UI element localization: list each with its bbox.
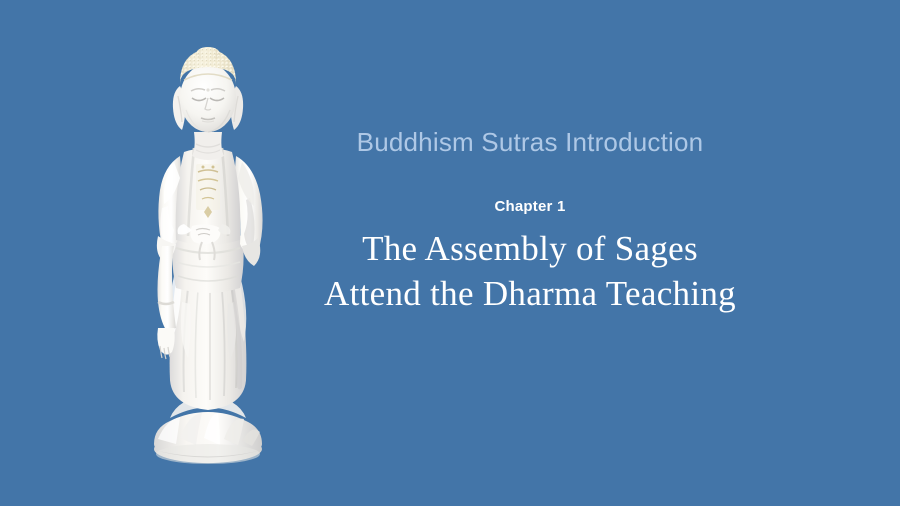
presentation-slide: Buddhism Sutras Introduction Chapter 1 T… [0,0,900,506]
neck-shape [192,132,224,160]
slide-heading: Buddhism Sutras Introduction [310,128,750,158]
robe-lower-shape [169,276,246,410]
gold-chest-pattern [196,164,220,218]
slide-title-line-1: The Assembly of Sages [310,227,750,272]
chapter-label: Chapter 1 [310,198,750,215]
slide-text-block: Buddhism Sutras Introduction Chapter 1 T… [310,128,750,316]
standing-buddha-statue-image [118,40,298,472]
buddha-head-shape [173,47,243,132]
slide-title: The Assembly of Sages Attend the Dharma … [310,227,750,317]
slide-title-line-2: Attend the Dharma Teaching [310,272,750,317]
